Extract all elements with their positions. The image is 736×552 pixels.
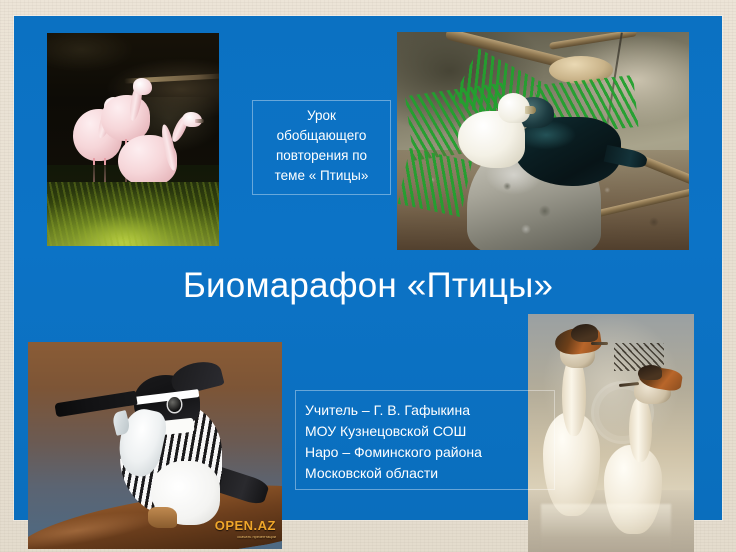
watermark-text: OPEN.AZ — [215, 518, 276, 533]
lesson-line-2: обобщающего — [257, 126, 386, 146]
flamingos-grass — [47, 182, 219, 246]
lesson-line-1: Урок — [257, 106, 386, 126]
kingfisher-photo[interactable]: OPEN.AZ скачать презентации — [28, 342, 282, 549]
pigeons-photo[interactable] — [397, 32, 689, 250]
grebes-reflection — [541, 504, 670, 552]
teacher-line-4: Московской области — [305, 463, 554, 484]
white-bird — [458, 93, 534, 176]
lesson-line-4: теме « Птицы» — [257, 166, 386, 186]
lesson-line-3: повторения по — [257, 146, 386, 166]
teacher-line-1: Учитель – Г. В. Гафыкина — [305, 400, 554, 421]
kingfisher-bird — [114, 375, 256, 528]
presentation-page: Урок обобщающего повторения по теме « Пт… — [0, 0, 736, 552]
flamingos-photo[interactable] — [47, 33, 219, 246]
teacher-line-2: МОУ Кузнецовской СОШ — [305, 421, 554, 442]
watermark-subtext: скачать презентации — [215, 534, 276, 539]
teacher-line-3: Наро – Фоминского района — [305, 442, 554, 463]
lesson-description-textbox[interactable]: Урок обобщающего повторения по теме « Пт… — [252, 100, 391, 195]
open-az-watermark: OPEN.AZ скачать презентации — [215, 518, 276, 539]
page-title: Биомарафон «Птицы» — [14, 264, 722, 308]
teacher-info-textbox[interactable]: Учитель – Г. В. Гафыкина МОУ Кузнецовско… — [295, 390, 555, 490]
